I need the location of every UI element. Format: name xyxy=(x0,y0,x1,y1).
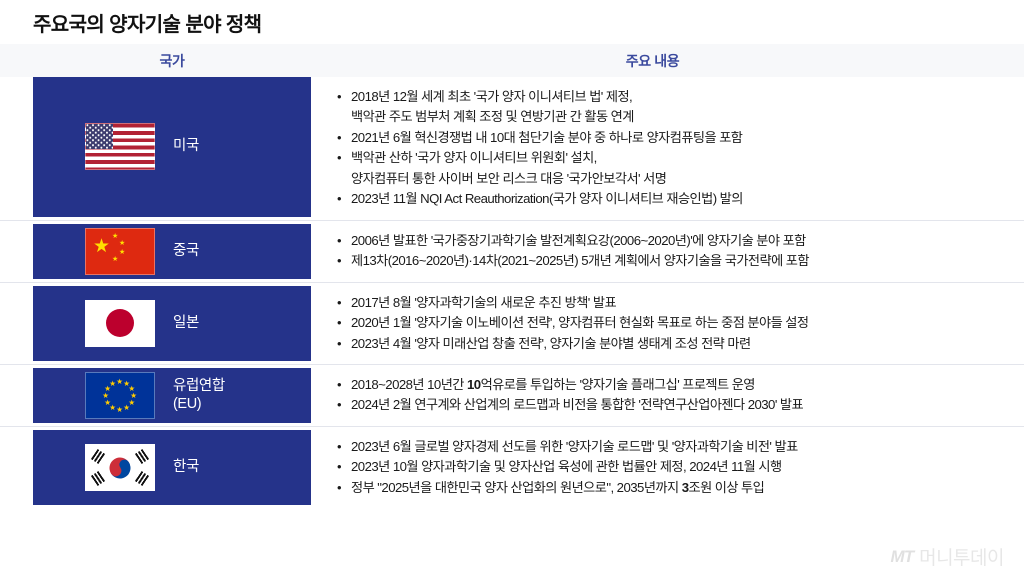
content-bullet: 2006년 발표한 '국가중장기과학기술 발전계획요강(2006~2020년)'… xyxy=(337,231,998,251)
content-bullet: 2018년 12월 세계 최초 '국가 양자 이니셔티브 법' 제정,백악관 주… xyxy=(337,87,998,128)
country-cell: 일본 xyxy=(33,286,311,361)
country-cell: 한국 xyxy=(33,430,311,505)
watermark-label: 머니투데이 xyxy=(919,543,1004,570)
table-row: ★★★★★★★★★★★★유럽연합 (EU)2018~2028년 10년간 10억… xyxy=(0,364,1024,426)
content-bullet: 백악관 산하 '국가 양자 이니셔티브 위원회' 설치,양자컴퓨터 통한 사이버… xyxy=(337,148,998,189)
table-row: 일본2017년 8월 '양자과학기술의 새로운 추진 방책' 발표2020년 1… xyxy=(0,282,1024,364)
title-bar: 주요국의 양자기술 분야 정책 xyxy=(0,0,1024,44)
table-header-row: 국가 주요 내용 xyxy=(0,44,1024,77)
country-label: 유럽연합 (EU) xyxy=(173,377,225,415)
page-title: 주요국의 양자기술 분야 정책 xyxy=(33,8,261,37)
japan-flag-icon xyxy=(85,300,155,347)
content-cell: 2017년 8월 '양자과학기술의 새로운 추진 방책' 발표2020년 1월 … xyxy=(311,283,1024,364)
content-cell: 2018년 12월 세계 최초 '국가 양자 이니셔티브 법' 제정,백악관 주… xyxy=(311,77,1024,220)
content-bullet: 2023년 10월 양자과학기술 및 양자산업 육성에 관한 법률안 제정, 2… xyxy=(337,457,998,477)
content-bullet: 2023년 6월 글로벌 양자경제 선도를 위한 '양자기술 로드맵' 및 '양… xyxy=(337,437,998,457)
country-label: 중국 xyxy=(173,242,199,261)
content-bullet: 2021년 6월 혁신경쟁법 내 10대 첨단기술 분야 중 하나로 양자컴퓨팅… xyxy=(337,128,998,148)
content-cell: 2023년 6월 글로벌 양자경제 선도를 위한 '양자기술 로드맵' 및 '양… xyxy=(311,427,1024,508)
content-cell: 2006년 발표한 '국가중장기과학기술 발전계획요강(2006~2020년)'… xyxy=(311,221,1024,282)
infographic-page: { "title": "주요국의 양자기술 분야 정책", "colors": … xyxy=(0,0,1024,576)
table-body: 미국2018년 12월 세계 최초 '국가 양자 이니셔티브 법' 제정,백악관… xyxy=(0,77,1024,508)
content-bullet: 제13차(2016~2020년)·14차(2021~2025년) 5개년 계획에… xyxy=(337,251,998,271)
content-bullet: 2017년 8월 '양자과학기술의 새로운 추진 방책' 발표 xyxy=(337,293,998,313)
table-row: 미국2018년 12월 세계 최초 '국가 양자 이니셔티브 법' 제정,백악관… xyxy=(0,77,1024,220)
watermark: MT 머니투데이 xyxy=(891,543,1004,570)
content-bullet: 2024년 2월 연구계와 산업계의 로드맵과 비전을 통합한 '전략연구산업아… xyxy=(337,395,998,415)
money-today-logo-icon: MT xyxy=(891,547,914,567)
country-cell: ★★★★★중국 xyxy=(33,224,311,279)
country-label: 미국 xyxy=(173,137,199,156)
content-bullet: 2023년 11월 NQI Act Reauthorization(국가 양자 … xyxy=(337,189,998,209)
content-bullet: 2020년 1월 '양자기술 이노베이션 전략', 양자컴퓨터 현실화 목표로 … xyxy=(337,313,998,333)
content-bullet: 2018~2028년 10년간 10억유로를 투입하는 '양자기술 플래그십' … xyxy=(337,375,998,395)
country-cell: 미국 xyxy=(33,77,311,217)
table-row: ★★★★★중국2006년 발표한 '국가중장기과학기술 발전계획요강(2006~… xyxy=(0,220,1024,282)
korea-flag-icon xyxy=(85,444,155,491)
content-bullet: 정부 "2025년을 대한민국 양자 산업화의 원년으로", 2035년까지 3… xyxy=(337,478,998,498)
content-cell: 2018~2028년 10년간 10억유로를 투입하는 '양자기술 플래그십' … xyxy=(311,365,1024,426)
china-flag-icon: ★★★★★ xyxy=(85,228,155,275)
table-row: 한국2023년 6월 글로벌 양자경제 선도를 위한 '양자기술 로드맵' 및 … xyxy=(0,426,1024,508)
country-cell: ★★★★★★★★★★★★유럽연합 (EU) xyxy=(33,368,311,423)
us-flag-icon xyxy=(85,123,155,170)
column-header-content: 주요 내용 xyxy=(311,51,994,71)
country-label: 한국 xyxy=(173,458,199,477)
country-label: 일본 xyxy=(173,314,199,333)
column-header-country: 국가 xyxy=(33,51,311,71)
eu-flag-icon: ★★★★★★★★★★★★ xyxy=(85,372,155,419)
content-bullet: 2023년 4월 '양자 미래산업 창출 전략', 양자기술 분야별 생태계 조… xyxy=(337,334,998,354)
